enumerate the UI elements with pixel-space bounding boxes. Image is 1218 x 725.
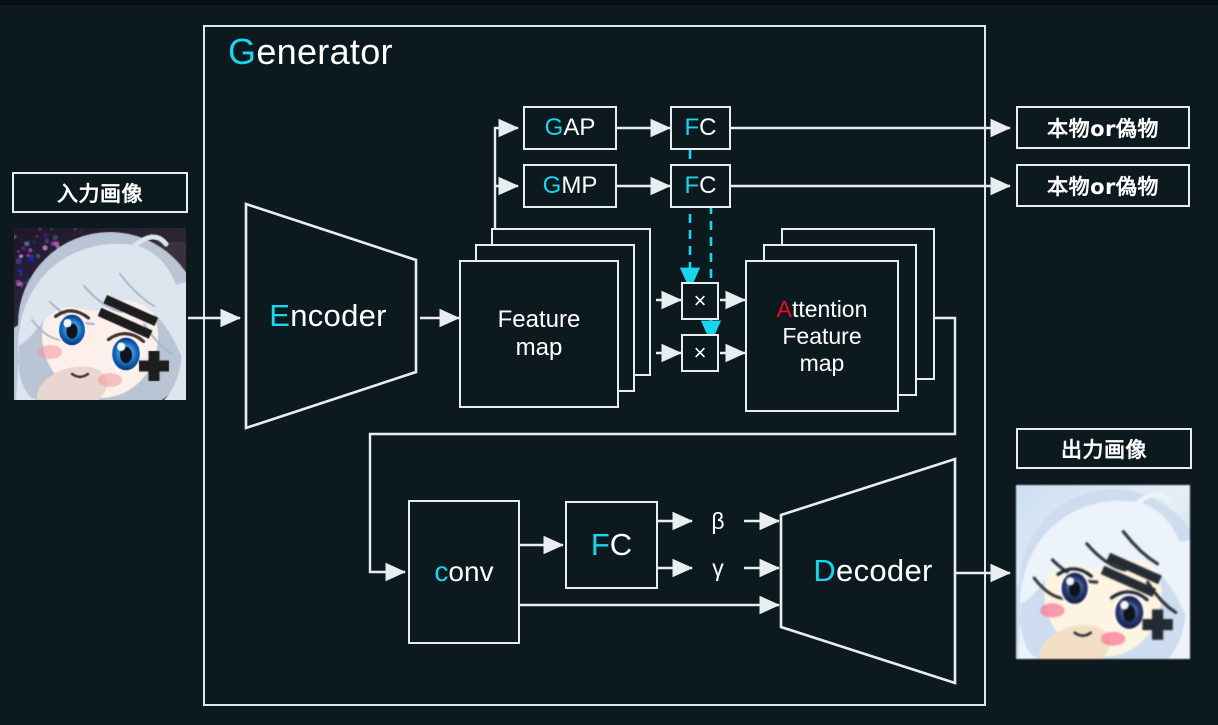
- output-image-canvas: [1016, 485, 1190, 659]
- generator-title-rest: enerator: [256, 31, 393, 72]
- discriminator-output-1-label: 本物or偽物: [1047, 113, 1159, 143]
- input-image-thumbnail: [14, 228, 186, 400]
- multiply-bottom-symbol: ×: [694, 342, 707, 364]
- input-image-label-text: 入力画像: [57, 178, 143, 208]
- discriminator-output-2-label: 本物or偽物: [1047, 171, 1159, 201]
- conv-label-accent: c: [434, 556, 448, 587]
- conv-block[interactable]: conv: [408, 500, 520, 644]
- attention-label-line3: map: [800, 350, 845, 376]
- feature-map-card-front: Feature map: [459, 260, 619, 408]
- beta-symbol: β: [700, 507, 736, 535]
- fc-mid-accent: F: [684, 172, 699, 199]
- feature-map-line2: map: [516, 334, 563, 361]
- multiply-bottom-node: ×: [681, 334, 719, 372]
- fc-top-rest: C: [699, 114, 716, 141]
- attention-label-rest: ttention: [792, 296, 867, 322]
- gap-label-accent: G: [545, 114, 564, 141]
- diagram-canvas: Generator: [0, 0, 1218, 725]
- attention-feature-map-stack: Attention Feature map: [745, 228, 945, 412]
- encoder-label-accent: E: [269, 298, 290, 334]
- fc-bottom-block[interactable]: FC: [565, 501, 658, 589]
- fc-bottom-accent: F: [591, 527, 610, 562]
- generator-title-accent: G: [228, 31, 256, 72]
- fc-mid-block[interactable]: FC: [670, 164, 731, 208]
- beta-symbol-text: β: [711, 508, 724, 535]
- fc-mid-rest: C: [699, 172, 716, 199]
- decoder-label-accent: D: [813, 553, 836, 589]
- generator-title: Generator: [228, 31, 393, 73]
- attention-card-front: Attention Feature map: [745, 260, 899, 412]
- gamma-symbol-text: γ: [712, 555, 724, 582]
- multiply-top-symbol: ×: [694, 290, 707, 312]
- discriminator-output-2: 本物or偽物: [1016, 164, 1190, 207]
- output-image-thumbnail: [1016, 485, 1190, 659]
- gmp-label-rest: MP: [561, 172, 597, 199]
- gmp-label-accent: G: [543, 172, 562, 199]
- multiply-top-node: ×: [681, 282, 719, 320]
- fc-top-block[interactable]: FC: [670, 106, 731, 150]
- encoder-label: Encoder: [240, 200, 416, 432]
- gmp-block[interactable]: GMP: [523, 164, 617, 208]
- gamma-symbol: γ: [700, 554, 736, 582]
- gap-block[interactable]: GAP: [523, 106, 617, 150]
- feature-map-stack: Feature map: [459, 228, 659, 408]
- attention-label-line2: Feature: [782, 323, 861, 349]
- conv-label-rest: onv: [448, 556, 493, 587]
- input-image-canvas: [14, 228, 186, 400]
- attention-label-accent: A: [777, 296, 792, 322]
- fc-bottom-rest: C: [610, 527, 632, 562]
- output-image-label: 出力画像: [1016, 428, 1192, 469]
- encoder-label-rest: ncoder: [290, 298, 387, 334]
- gap-label-rest: AP: [563, 114, 595, 141]
- fc-top-accent: F: [684, 114, 699, 141]
- decoder-label-rest: ecoder: [836, 553, 933, 589]
- output-image-label-text: 出力画像: [1061, 434, 1147, 464]
- feature-map-line1: Feature: [498, 306, 581, 333]
- discriminator-output-1: 本物or偽物: [1016, 106, 1190, 149]
- decoder-label: Decoder: [785, 455, 961, 687]
- input-image-label: 入力画像: [12, 172, 188, 213]
- top-edge-strip: [0, 0, 1218, 5]
